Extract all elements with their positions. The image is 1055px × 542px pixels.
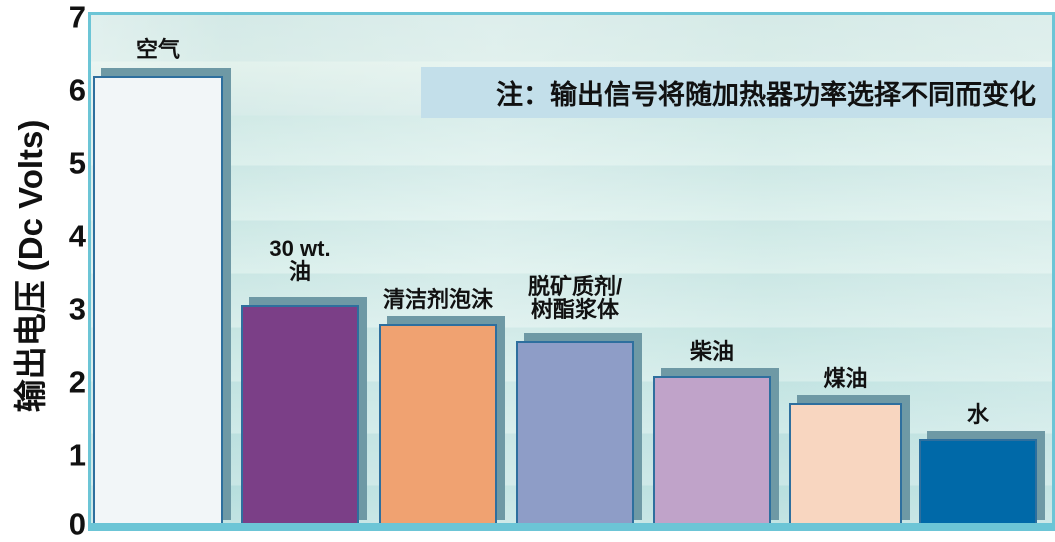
y-tick-7: 7 xyxy=(52,2,86,33)
bar-body-demineralizer-resin[interactable] xyxy=(516,341,634,528)
bar-group-30wt-oil[interactable]: 30 wt. 油 xyxy=(241,305,359,528)
note-annotation-text: 注：输出信号将随加热器功率选择不同而变化 xyxy=(496,73,1036,112)
x-axis-baseline xyxy=(91,523,1052,528)
bar-body-air[interactable] xyxy=(93,76,223,528)
bar-group-demineralizer-resin[interactable]: 脱矿质剂/ 树酯浆体 xyxy=(516,341,634,528)
bar-group-air[interactable]: 空气 xyxy=(93,76,223,528)
bar-group-water[interactable]: 水 xyxy=(919,439,1037,528)
bar-group-detergent-foam[interactable]: 清洁剂泡沫 xyxy=(379,324,497,528)
y-tick-6: 6 xyxy=(52,75,86,106)
bar-label-line1: 水 xyxy=(967,402,989,427)
bar-label-line1: 清洁剂泡沫 xyxy=(383,287,493,312)
plot-area: 注：输出信号将随加热器功率选择不同而变化 空气 30 wt. 油 清洁剂泡沫 xyxy=(88,12,1055,531)
bar-label-detergent-foam: 清洁剂泡沫 xyxy=(383,288,493,311)
note-annotation-box: 注：输出信号将随加热器功率选择不同而变化 xyxy=(421,67,1055,118)
bar-group-diesel[interactable]: 柴油 xyxy=(653,376,771,528)
y-tick-3: 3 xyxy=(52,294,86,325)
bar-label-line1: 煤油 xyxy=(823,366,867,391)
bar-label-line1: 柴油 xyxy=(690,339,734,364)
bar-label-line1: 脱矿质剂/ xyxy=(528,274,622,299)
bar-label-demineralizer-resin: 脱矿质剂/ 树酯浆体 xyxy=(528,275,622,321)
y-tick-4: 4 xyxy=(52,221,86,252)
bar-group-kerosene[interactable]: 煤油 xyxy=(789,403,902,528)
y-tick-5: 5 xyxy=(52,148,86,179)
bar-label-air: 空气 xyxy=(136,38,180,61)
bar-body-30wt-oil[interactable] xyxy=(241,305,359,528)
y-tick-2: 2 xyxy=(52,367,86,398)
bar-label-line1: 30 wt. xyxy=(269,236,330,261)
bar-label-30wt-oil: 30 wt. 油 xyxy=(269,237,330,283)
y-tick-0: 0 xyxy=(52,509,86,540)
bar-body-detergent-foam[interactable] xyxy=(379,324,497,528)
bar-chart: 输出电压 (Dc Volts) 7 6 5 4 3 2 1 0 注：输出信号将随… xyxy=(0,0,1055,538)
bar-label-water: 水 xyxy=(967,403,989,426)
bar-body-water[interactable] xyxy=(919,439,1037,528)
bar-label-line2: 树酯浆体 xyxy=(531,297,619,322)
bar-label-line2: 油 xyxy=(289,259,311,284)
bar-label-kerosene: 煤油 xyxy=(823,367,867,390)
y-tick-1: 1 xyxy=(52,440,86,471)
bar-label-diesel: 柴油 xyxy=(690,340,734,363)
bar-body-diesel[interactable] xyxy=(653,376,771,528)
y-axis-title: 输出电压 (Dc Volts) xyxy=(5,6,51,526)
y-axis-tick-labels: 7 6 5 4 3 2 1 0 xyxy=(52,0,86,538)
bar-body-kerosene[interactable] xyxy=(789,403,902,528)
bar-label-line1: 空气 xyxy=(136,37,180,62)
